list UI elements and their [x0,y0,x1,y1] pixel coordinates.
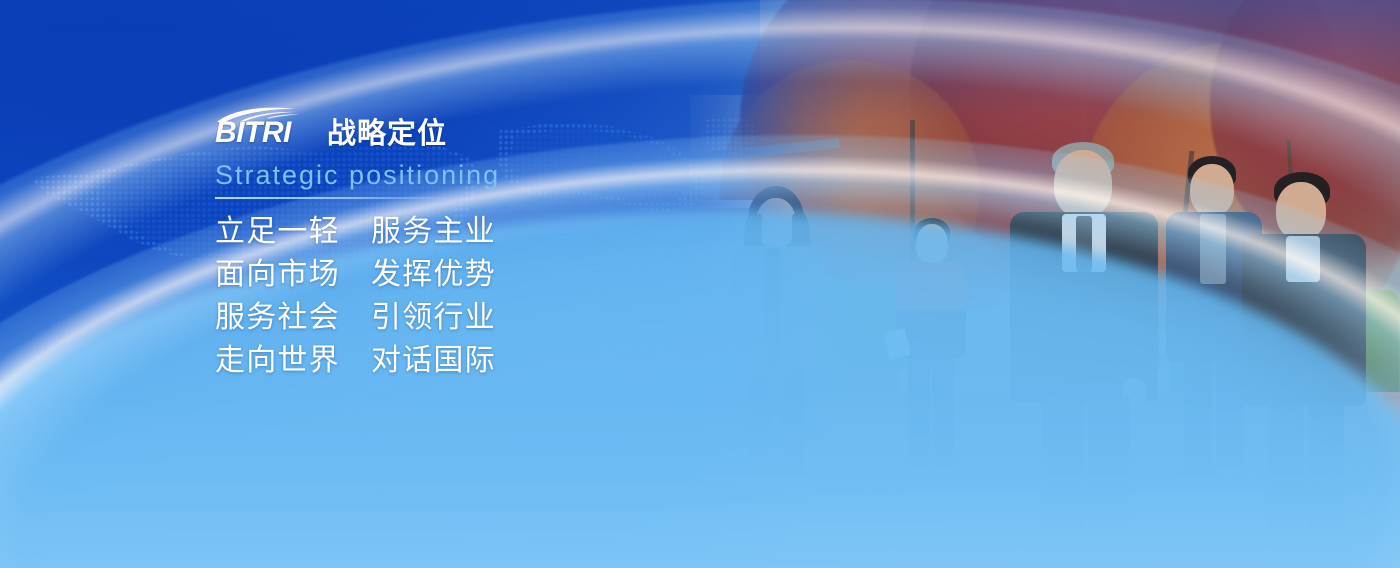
photo-person [888,218,974,488]
brand-row: BITRI 战略定位 [215,104,635,152]
photo-person [722,186,832,516]
headline-title-cn: 战略定位 [327,120,447,152]
slogan-line: 服务社会 引领行业 [215,303,635,333]
bitri-logo: BITRI [215,106,313,152]
headline-divider [215,197,460,199]
slogan-line: 走向世界 对话国际 [215,346,635,376]
slogan-line: 立足一轻 服务主业 [215,217,635,247]
slogan-list: 立足一轻 服务主业 面向市场 发挥优势 服务社会 引领行业 走向世界 对话国际 [215,217,635,376]
slogan-line: 面向市场 发挥优势 [215,260,635,290]
photo-person-leader [1010,142,1160,562]
headline-block: BITRI 战略定位 Strategic positioning 立足一轻 服务… [215,104,635,376]
photo-person [1240,172,1368,562]
headline-subtitle-en: Strategic positioning [215,161,635,189]
strategic-positioning-banner: BITRI 战略定位 Strategic positioning 立足一轻 服务… [0,0,1400,568]
team-photo [610,0,1400,568]
bitri-logo-text: BITRI [215,118,291,148]
